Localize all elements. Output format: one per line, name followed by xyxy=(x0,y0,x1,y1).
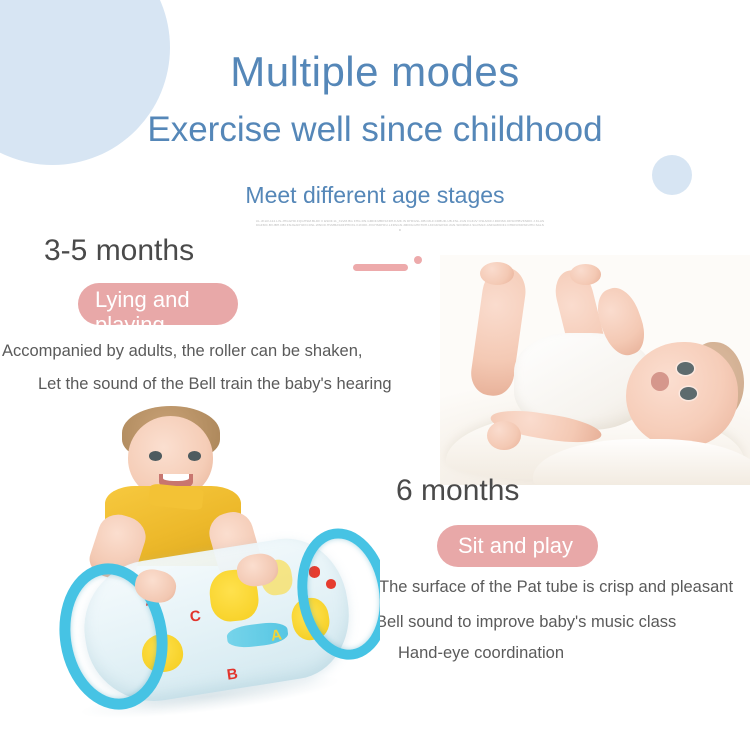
stage-one-heading: 3-5 months xyxy=(44,234,194,268)
roller-letter-b: B xyxy=(226,665,239,683)
baby-foot-left xyxy=(480,262,514,285)
photo-baby-with-roller-toy: A C B A xyxy=(40,400,380,720)
page-subtitle: Exercise well since childhood xyxy=(0,110,750,150)
roller-letter-c: C xyxy=(188,607,201,625)
photo-baby-lying-on-back xyxy=(440,255,750,485)
stage-one-badge-line2: playing xyxy=(95,312,238,337)
stage-two-badge: Sit and play xyxy=(437,525,598,567)
decorative-microtext: UL.JKLR-114.LIS-JHGGHD.FQGHSM.BLDF II ES… xyxy=(255,219,545,232)
roller-letter-a-secondary: A xyxy=(270,627,283,645)
stage-one-badge-line1: Lying and xyxy=(95,287,238,312)
stage-two-heading: 6 months xyxy=(396,474,519,508)
product-feature-banner: Multiple modes Exercise well since child… xyxy=(0,0,750,750)
baby-eye-left xyxy=(677,362,694,375)
stage-two-body-line-3: Hand-eye coordination xyxy=(398,644,564,663)
baby-hand xyxy=(487,421,521,451)
stage-one-body-line-1: Accompanied by adults, the roller can be… xyxy=(2,342,362,361)
divider-dot xyxy=(414,256,422,264)
divider-bar xyxy=(353,264,408,271)
stage-one-badge: Lying and playing xyxy=(78,283,238,325)
stage-two-body-line-1: The surface of the Pat tube is crisp and… xyxy=(379,578,733,597)
page-tagline: Meet different age stages xyxy=(0,182,750,209)
baby-foot-right xyxy=(570,264,601,285)
stage-two-body-line-2: Bell sound to improve baby's music class xyxy=(376,613,676,632)
page-title: Multiple modes xyxy=(0,48,750,96)
stage-one-body-line-2: Let the sound of the Bell train the baby… xyxy=(38,375,392,394)
baby-mouth xyxy=(651,372,670,390)
